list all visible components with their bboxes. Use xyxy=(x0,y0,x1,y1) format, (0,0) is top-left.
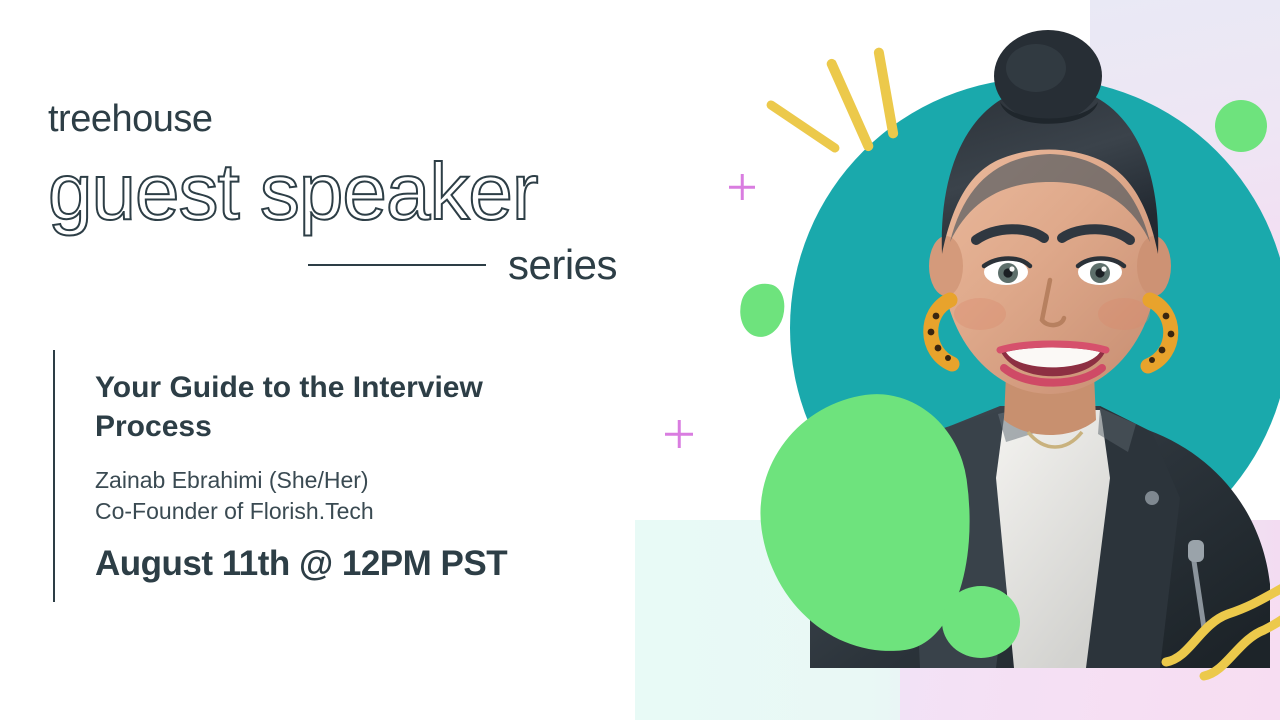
talk-title: Your Guide to the Interview Process xyxy=(95,368,515,446)
brand-heading-block: treehouse guest speaker series xyxy=(48,100,668,286)
magenta-plus-top-icon xyxy=(729,174,755,200)
event-datetime: August 11th @ 12PM PST xyxy=(95,546,515,581)
series-divider-rule xyxy=(308,264,486,266)
speaker-name: Zainab Ebrahimi (She/Her) xyxy=(95,466,515,495)
series-row: series xyxy=(48,244,668,286)
magenta-plus-middle-icon xyxy=(665,420,693,448)
yellow-wave-lines-icon xyxy=(1160,580,1280,700)
guest-speaker-headline: guest speaker xyxy=(48,152,668,232)
treehouse-wordmark: treehouse xyxy=(48,100,668,138)
slide-canvas: treehouse guest speaker series Your Guid… xyxy=(0,0,1280,720)
speaker-role: Co-Founder of Florish.Tech xyxy=(95,497,515,526)
green-circle-bottom-icon xyxy=(942,586,1020,658)
event-details-block: Your Guide to the Interview Process Zain… xyxy=(53,350,515,602)
series-label: series xyxy=(508,244,617,286)
green-blob-small-icon xyxy=(734,278,790,342)
